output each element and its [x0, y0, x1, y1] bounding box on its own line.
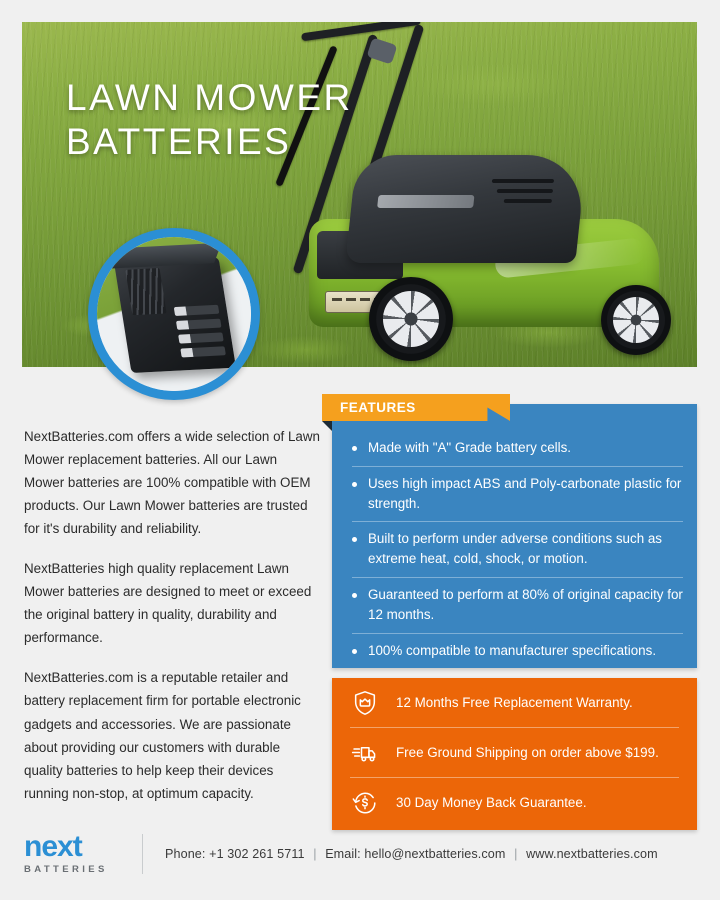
feature-text: Made with "A" Grade battery cells. — [368, 438, 571, 458]
features-ribbon-label: FEATURES — [322, 394, 510, 421]
bullet-icon — [352, 446, 357, 451]
bullet-icon — [352, 482, 357, 487]
feature-text: 100% compatible to manufacturer specific… — [368, 641, 656, 661]
feature-text: Guaranteed to perform at 80% of original… — [368, 585, 683, 625]
separator: | — [308, 847, 321, 861]
description-paragraph-2: NextBatteries high quality replacement L… — [24, 557, 320, 649]
guarantee-text: 12 Months Free Replacement Warranty. — [396, 693, 633, 712]
mower-wheel-hub — [613, 297, 659, 343]
mower-motor-cowling — [345, 155, 586, 263]
phone-number[interactable]: +1 302 261 5711 — [209, 847, 304, 861]
logo-wordmark: next — [24, 832, 120, 862]
description-paragraph-3: NextBatteries.com is a reputable retaile… — [24, 666, 320, 804]
website-url[interactable]: www.nextbatteries.com — [526, 847, 658, 861]
mower-brand-badge — [377, 195, 474, 208]
money-back-icon — [350, 788, 380, 818]
guarantee-item: 30 Day Money Back Guarantee. — [350, 778, 679, 828]
battery-terminal-tab — [174, 305, 220, 316]
mower-wheel-hub — [383, 291, 438, 346]
footer-contact-line: Phone: +1 302 261 5711 | Email: hello@ne… — [165, 847, 658, 861]
mower-vent — [492, 179, 554, 183]
battery-pack-image — [114, 257, 236, 373]
separator: | — [509, 847, 522, 861]
mower-vent — [504, 199, 552, 203]
guarantee-item: 12 Months Free Replacement Warranty. — [350, 678, 679, 728]
feature-text: Uses high impact ABS and Poly-carbonate … — [368, 474, 683, 514]
mower-wheel — [601, 285, 671, 355]
phone-label: Phone: — [165, 847, 206, 861]
features-list: Made with "A" Grade battery cells. Uses … — [352, 431, 683, 669]
guarantee-text: Free Ground Shipping on order above $199… — [396, 743, 659, 762]
feature-item: Built to perform under adverse condition… — [352, 522, 683, 578]
hero-title-line-1: LAWN MOWER — [66, 77, 353, 118]
mower-vent — [497, 189, 553, 193]
features-panel: FEATURES Made with "A" Grade battery cel… — [332, 404, 697, 668]
description-column: NextBatteries.com offers a wide selectio… — [24, 425, 320, 822]
email-label: Email: — [325, 847, 361, 861]
hero-title: LAWN MOWER BATTERIES — [66, 76, 353, 163]
brand-logo[interactable]: next BATTERIES — [24, 832, 120, 875]
guarantee-item: Free Ground Shipping on order above $199… — [350, 728, 679, 778]
feature-item: 100% compatible to manufacturer specific… — [352, 634, 683, 669]
description-paragraph-1: NextBatteries.com offers a wide selectio… — [24, 425, 320, 540]
bullet-icon — [352, 649, 357, 654]
feature-item: Made with "A" Grade battery cells. — [352, 431, 683, 467]
logo-subtitle: BATTERIES — [24, 864, 120, 875]
guarantee-text: 30 Day Money Back Guarantee. — [396, 793, 587, 812]
footer: next BATTERIES Phone: +1 302 261 5711 | … — [24, 832, 696, 875]
hero-title-line-2: BATTERIES — [66, 120, 353, 164]
feature-item: Guaranteed to perform at 80% of original… — [352, 578, 683, 634]
shield-crown-icon — [350, 688, 380, 718]
ribbon-fold-decoration — [322, 421, 332, 431]
bullet-icon — [352, 537, 357, 542]
feature-item: Uses high impact ABS and Poly-carbonate … — [352, 467, 683, 523]
flyer-page: LAWN MOWER BATTERIES NextBatteries.com o… — [0, 0, 720, 900]
delivery-truck-icon — [350, 738, 380, 768]
mower-wheel — [369, 277, 453, 361]
battery-terminal-tab — [180, 346, 226, 357]
guarantees-panel: 12 Months Free Replacement Warranty. Fre… — [332, 678, 697, 830]
battery-product-inset — [88, 228, 260, 400]
footer-divider — [142, 834, 143, 874]
battery-terminal-tab — [176, 319, 222, 330]
battery-ribs — [125, 268, 166, 315]
bullet-icon — [352, 593, 357, 598]
feature-text: Built to perform under adverse condition… — [368, 529, 683, 569]
battery-terminal-tab — [178, 332, 224, 343]
email-address[interactable]: hello@nextbatteries.com — [364, 847, 505, 861]
